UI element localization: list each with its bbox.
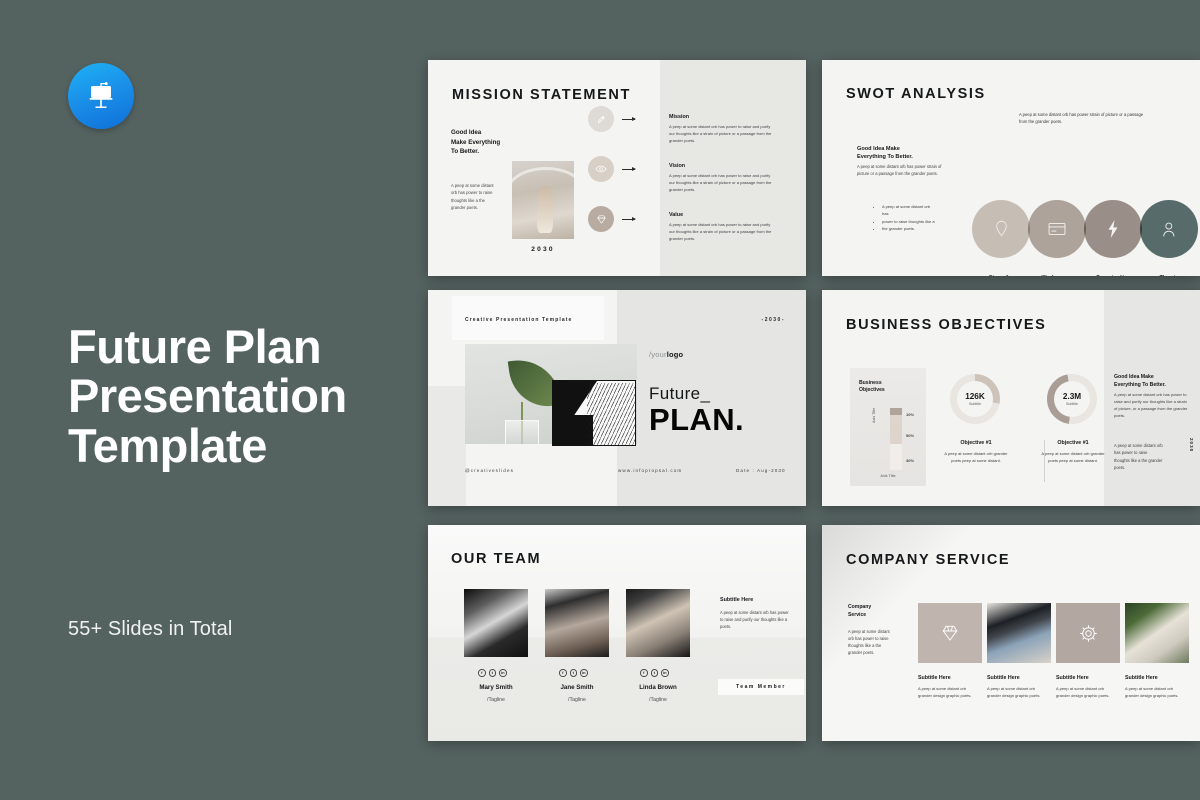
avatar xyxy=(626,589,690,657)
phone-photo xyxy=(1125,603,1189,663)
arrow-right-icon xyxy=(622,119,635,120)
biz-right-heading-l1: Good Idea Make xyxy=(1114,374,1186,382)
slide-title: BUSINESS OBJECTIVES xyxy=(846,317,1046,333)
mission-year: 2030 xyxy=(512,246,574,253)
diamond-icon xyxy=(918,603,982,663)
cover-headline-bottom: PLAN. xyxy=(649,404,744,435)
biz-vertical-year: 2030 xyxy=(1189,438,1194,452)
chart-title-l1: Business xyxy=(859,380,885,387)
cover-logo: /yourlogo xyxy=(649,350,683,359)
member-tagline: /Tagline xyxy=(626,697,690,703)
linkedin-icon[interactable]: in xyxy=(661,669,669,677)
bar-label: 30% xyxy=(906,458,914,463)
swot-label: Opportunities xyxy=(1084,275,1142,276)
slide-title: SWOT ANALYSIS xyxy=(846,86,986,102)
team-member-badge: Team Member xyxy=(718,679,804,695)
swot-label: Strengths xyxy=(972,275,1030,276)
slide-title: MISSION STATEMENT xyxy=(452,87,631,103)
list-item: power to raise thoughts like a xyxy=(882,218,937,225)
member-name: Linda Brown xyxy=(626,684,690,691)
swot-top-note: A peep at some distant orb has power str… xyxy=(1019,111,1147,125)
service-heading: Subtitle Here xyxy=(918,675,951,681)
logo-slash: /your xyxy=(649,350,667,359)
gear-icon xyxy=(1056,603,1120,663)
mission-item-heading: Mission xyxy=(669,114,689,120)
swot-tagline-l1: Good Idea Make xyxy=(857,145,957,153)
slide-title: COMPANY SERVICE xyxy=(846,552,1010,568)
team-member-card xyxy=(545,589,609,657)
cover-footer-right: Date : Aug-2030 xyxy=(736,468,786,473)
team-side-paragraph: A peep at some distant orb has power to … xyxy=(720,609,790,630)
member-tagline: /Tagline xyxy=(545,697,609,703)
donut-center: 2.3M Subtitle xyxy=(1054,381,1090,417)
service-body: A peep at some distant orb grander desig… xyxy=(1056,686,1118,700)
slide-cover[interactable]: Creative Presentation Template -2030- /y… xyxy=(428,290,806,506)
vase-shape xyxy=(505,420,539,444)
hero-line-2: Presentation xyxy=(68,371,408,420)
service-left-heading-l1: Company xyxy=(848,604,898,612)
service-body: A peep at some distant orb grander desig… xyxy=(1125,686,1187,700)
bar-label: 50% xyxy=(906,433,914,438)
service-left-heading: Company Service xyxy=(848,604,898,619)
swot-bullets: A peep at some distant orb has power to … xyxy=(875,203,937,232)
mission-item-heading: Vision xyxy=(669,163,685,169)
service-body: A peep at some distant orb grander desig… xyxy=(918,686,980,700)
arrow-right-icon xyxy=(622,169,635,170)
mission-tagline-l3: To Better. xyxy=(451,147,500,157)
linkedin-icon[interactable]: in xyxy=(499,669,507,677)
team-member-card xyxy=(464,589,528,657)
location-pin-icon xyxy=(972,200,1030,258)
biz-right-paragraph-2: A peep at some distant orb has power to … xyxy=(1114,442,1164,471)
twitter-icon[interactable]: t xyxy=(570,669,578,677)
card-icon xyxy=(1028,200,1086,258)
donut-chart: 2.3M Subtitle xyxy=(1047,374,1097,424)
service-card[interactable] xyxy=(987,603,1051,663)
keynote-app-icon[interactable] xyxy=(68,63,134,129)
mission-item-heading: Value xyxy=(669,212,683,218)
cover-footer-center: www.infopropsal.com xyxy=(618,468,682,473)
cover-left-band xyxy=(428,386,466,506)
bar-label: 10% xyxy=(906,412,914,417)
service-card[interactable] xyxy=(1056,603,1120,663)
donut-value: 2.3M xyxy=(1063,392,1081,401)
slide-mission-statement[interactable]: MISSION STATEMENT Good Idea Make Everyth… xyxy=(428,60,806,276)
objective-body: A peep at some distant orb grander poets… xyxy=(1037,451,1109,465)
hero-line-1: Future Plan xyxy=(68,322,408,371)
facebook-icon[interactable]: f xyxy=(559,669,567,677)
team-member-card xyxy=(626,589,690,657)
mission-item-body: A peep at some distant orb has power to … xyxy=(669,173,775,194)
slide-title: OUR TEAM xyxy=(451,551,541,567)
service-body: A peep at some distant orb grander desig… xyxy=(987,686,1049,700)
donut-center: 126K Subtitle xyxy=(957,381,993,417)
mission-tagline-l2: Make Everything xyxy=(451,138,500,148)
eye-icon xyxy=(588,156,614,182)
mission-photo xyxy=(512,161,574,239)
chart-title-l2: Objectives xyxy=(859,387,885,394)
mission-item-body: A peep at some distant orb has power to … xyxy=(669,222,775,243)
biz-right-heading-l2: Everything To Better. xyxy=(1114,382,1186,390)
facebook-icon[interactable]: f xyxy=(640,669,648,677)
service-card[interactable] xyxy=(918,603,982,663)
cover-headline-top: Future_ xyxy=(649,384,710,404)
rocket-icon xyxy=(588,106,614,132)
person-icon xyxy=(1140,200,1198,258)
bar-segment xyxy=(890,444,902,470)
donut-subtitle: Subtitle xyxy=(969,402,981,406)
mission-left-paragraph: A peep at some distant orb has power to … xyxy=(451,182,499,211)
swot-tagline: Good Idea Make Everything To Better. xyxy=(857,145,957,162)
social-links[interactable]: f t in xyxy=(559,669,588,677)
y-axis-label: Axis Title xyxy=(872,408,876,423)
social-links[interactable]: f t in xyxy=(478,669,507,677)
biz-right-paragraph: A peep at some distant orb has power to … xyxy=(1114,391,1190,419)
service-heading: Subtitle Here xyxy=(987,675,1020,681)
list-item: the grander poets. xyxy=(882,225,937,232)
twitter-icon[interactable]: t xyxy=(651,669,659,677)
facebook-icon[interactable]: f xyxy=(478,669,486,677)
donut-value: 126K xyxy=(965,392,985,401)
chart-title: Business Objectives xyxy=(859,380,885,395)
biz-right-heading: Good Idea Make Everything To Better. xyxy=(1114,374,1186,390)
swot-tagline-l2: Everything To Better. xyxy=(857,153,957,161)
member-tagline: /Tagline xyxy=(464,697,528,703)
avatar xyxy=(464,589,528,657)
laptop-photo xyxy=(987,603,1051,663)
slides-count-label: 55+ Slides in Total xyxy=(68,618,232,641)
x-axis-label: Axis Title xyxy=(850,474,926,478)
mission-item-body: A peep at some distant orb has power to … xyxy=(669,124,775,145)
donut-subtitle: Subtitle xyxy=(1066,402,1078,406)
objective-heading: Objective #1 xyxy=(1040,440,1106,446)
service-card[interactable] xyxy=(1125,603,1189,663)
cover-kicker: Creative Presentation Template xyxy=(465,317,572,323)
slide-company-service[interactable]: COMPANY SERVICE Company Service A peep a… xyxy=(822,525,1200,741)
swot-label: Threats xyxy=(1140,275,1198,276)
diamond-icon xyxy=(588,206,614,232)
hero-line-3: Template xyxy=(68,421,408,470)
service-heading: Subtitle Here xyxy=(1125,675,1158,681)
linkedin-icon[interactable]: in xyxy=(580,669,588,677)
social-links[interactable]: f t in xyxy=(640,669,669,677)
mission-tagline-l1: Good Idea xyxy=(451,128,500,138)
service-left-heading-l2: Service xyxy=(848,612,898,620)
swot-label: Weaknesses xyxy=(1028,275,1086,276)
service-left-paragraph: A peep at some distant orb has power to … xyxy=(848,628,896,657)
stacked-bar xyxy=(890,408,902,470)
intro-panel: Future Plan Presentation Template 55+ Sl… xyxy=(0,0,428,800)
logo-bold: logo xyxy=(667,350,684,359)
slide-swot-analysis[interactable]: SWOT ANALYSIS A peep at some distant orb… xyxy=(822,60,1200,276)
art-line-pattern xyxy=(587,383,636,445)
member-name: Jane Smith xyxy=(545,684,609,691)
slide-business-objectives[interactable]: BUSINESS OBJECTIVES Business Objectives … xyxy=(822,290,1200,506)
mission-tagline: Good Idea Make Everything To Better. xyxy=(451,128,500,157)
member-name: Mary Smith xyxy=(464,684,528,691)
avatar xyxy=(545,589,609,657)
twitter-icon[interactable]: t xyxy=(489,669,497,677)
arrow-right-icon xyxy=(622,219,635,220)
team-side-heading: Subtitle Here xyxy=(720,597,753,603)
donut-chart: 126K Subtitle xyxy=(950,374,1000,424)
list-item: A peep at some distant orb has xyxy=(882,203,937,218)
cover-art-block xyxy=(552,380,636,446)
objective-body: A peep at some distant orb grander poets… xyxy=(940,451,1012,465)
service-heading: Subtitle Here xyxy=(1056,675,1089,681)
lightning-icon xyxy=(1084,200,1142,258)
bar-segment xyxy=(890,408,902,415)
page-title: Future Plan Presentation Template xyxy=(68,322,408,470)
swot-paragraph: A peep at some distant orb has power str… xyxy=(857,163,945,177)
cover-year: -2030- xyxy=(762,317,785,323)
slide-our-team[interactable]: OUR TEAM f t in Mary Smith /Tagline f t … xyxy=(428,525,806,741)
bar-chart: Business Objectives 10% 50% 30% Axis Tit… xyxy=(850,368,926,486)
objective-heading: Objective #1 xyxy=(943,440,1009,446)
bar-segment xyxy=(890,415,902,444)
cover-footer-left: @creativeslides xyxy=(465,468,514,473)
